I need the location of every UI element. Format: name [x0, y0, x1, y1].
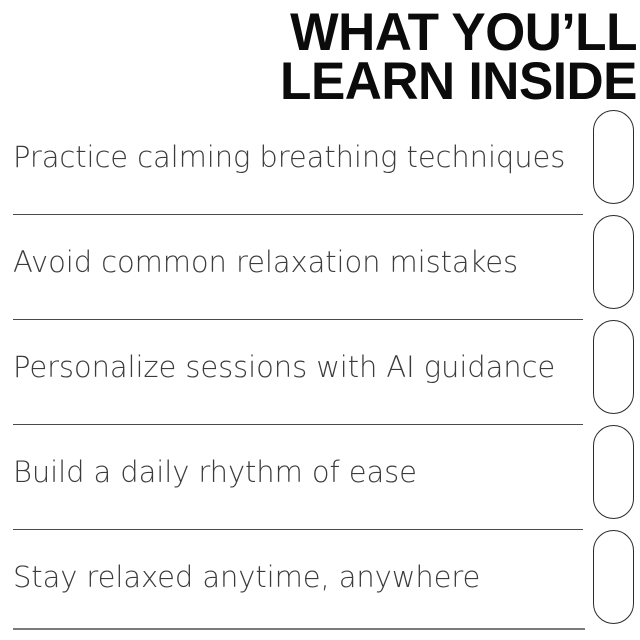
page-title-line-2: LEARN INSIDE [19, 57, 637, 106]
page-title: WHAT YOU’LL LEARN INSIDE [0, 0, 637, 106]
page-title-line-1: WHAT YOU’LL [19, 8, 637, 57]
pill-marker-icon [593, 320, 634, 414]
pill-marker-icon [593, 425, 634, 519]
pill-marker-icon [593, 530, 634, 624]
list-item: Practice calming breathing techniques [0, 110, 640, 215]
list-item-label: Avoid common relaxation mistakes [13, 245, 573, 279]
pill-marker-icon [593, 110, 634, 204]
list-item-label: Personalize sessions with AI guidance [13, 350, 573, 384]
benefits-list: Practice calming breathing techniques Av… [0, 110, 640, 635]
slide-canvas: WHAT YOU’LL LEARN INSIDE Practice calmin… [0, 0, 640, 640]
pill-marker-icon [593, 215, 634, 309]
list-item-label: Build a daily rhythm of ease [13, 455, 573, 489]
list-item: Avoid common relaxation mistakes [0, 215, 640, 320]
list-item-label: Stay relaxed anytime, anywhere [13, 560, 573, 594]
list-item: Personalize sessions with AI guidance [0, 320, 640, 425]
list-item: Build a daily rhythm of ease [0, 425, 640, 530]
list-item-label: Practice calming breathing techniques [13, 140, 573, 174]
list-item: Stay relaxed anytime, anywhere [0, 530, 640, 635]
bottom-rule [13, 628, 585, 630]
pill-marker-column [593, 110, 640, 640]
